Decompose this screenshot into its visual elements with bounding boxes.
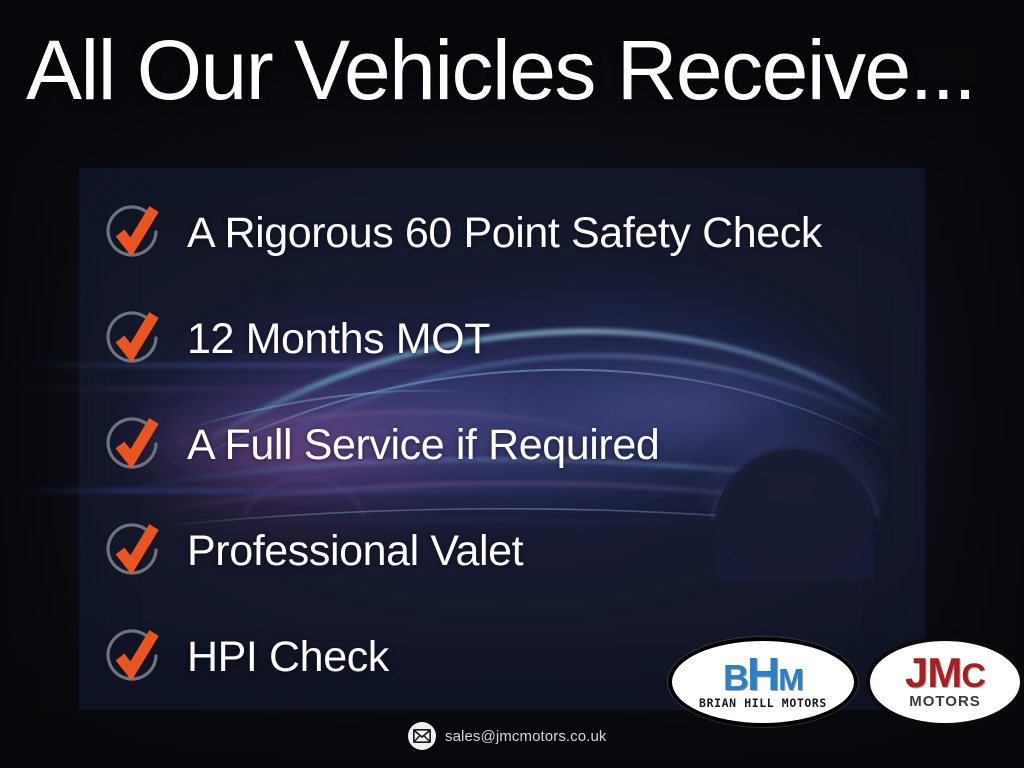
jmc-letter-c: C <box>961 661 985 692</box>
list-item-label: HPI Check <box>187 633 389 682</box>
jmc-logo: J M C MOTORS <box>866 637 1024 727</box>
page-title: All Our Vehicles Receive... <box>26 28 975 112</box>
jmc-letter-j: J <box>905 654 927 692</box>
bhm-logo-subtitle: BRIAN HILL MOTORS <box>699 696 827 710</box>
orange-check-circle-icon <box>103 414 165 476</box>
footer-contact: sales@jmcmotors.co.uk <box>408 722 607 750</box>
list-item-label: A Full Service if Required <box>187 421 659 470</box>
jmc-logo-subtitle: MOTORS <box>909 693 981 710</box>
orange-check-circle-icon <box>103 202 165 264</box>
envelope-icon <box>408 722 436 750</box>
orange-check-circle-icon <box>103 520 165 582</box>
list-item: A Full Service if Required <box>99 392 929 498</box>
bhm-letter-b: B <box>723 662 748 694</box>
bhm-logo: B H M BRIAN HILL MOTORS <box>668 637 858 727</box>
list-item: A Rigorous 60 Point Safety Check <box>99 180 929 286</box>
list-item-label: A Rigorous 60 Point Safety Check <box>187 209 822 258</box>
footer-email-text: sales@jmcmotors.co.uk <box>445 728 607 745</box>
benefits-checklist: A Rigorous 60 Point Safety Check 12 Mont… <box>99 180 929 710</box>
slide-canvas: All Our Vehicles Receive... A Rigorous 6… <box>0 0 1024 768</box>
list-item: 12 Months MOT <box>99 286 929 392</box>
orange-check-circle-icon <box>103 308 165 370</box>
list-item: Professional Valet <box>99 498 929 604</box>
orange-check-circle-icon <box>103 626 165 688</box>
bhm-letter-m: M <box>778 666 803 693</box>
list-item-label: 12 Months MOT <box>187 315 490 364</box>
bhm-logo-letters: B H M <box>723 654 803 694</box>
list-item-label: Professional Valet <box>187 527 523 576</box>
bhm-letter-h: H <box>747 654 779 694</box>
jmc-logo-letters: J M C <box>905 654 985 692</box>
jmc-letter-m: M <box>927 654 961 692</box>
